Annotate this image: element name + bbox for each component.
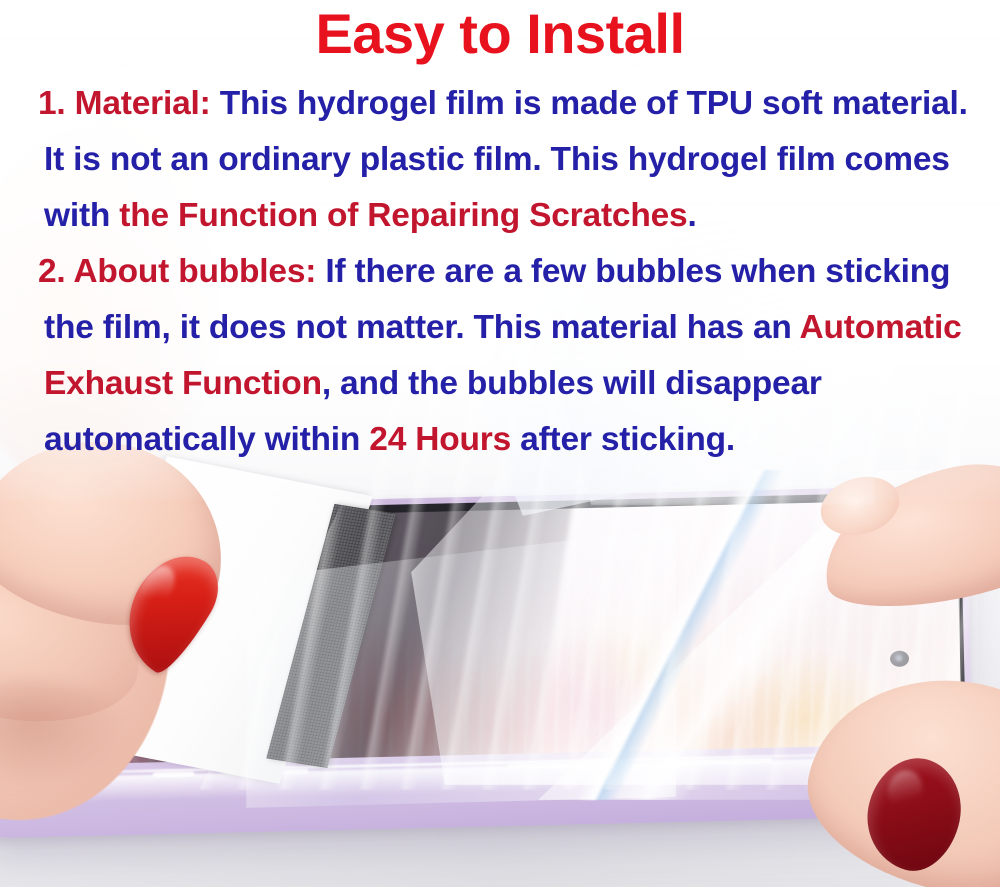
page-title: Easy to Install [0,0,1000,62]
text-run: with [44,197,119,234]
instruction-copy: Easy to Install 1. Material: This hydrog… [0,0,1000,468]
text-run: This hydrogel film is made of TPU soft m… [211,85,968,122]
right-hand [760,470,1000,887]
text-run: If there are a few bubbles when sticking [316,253,950,290]
text-run: the film, it does not matter. This mater… [44,309,800,346]
text-run: Exhaust Function [44,365,322,402]
instruction-line-7: automatically within 24 Hours after stic… [38,412,966,468]
text-run: the Function of Repairing Scratches [119,197,687,234]
text-run: after sticking. [511,421,735,458]
product-infographic: Easy to Install 1. Material: This hydrog… [0,0,1000,887]
instruction-line-1: 1. Material: This hydrogel film is made … [38,76,966,132]
instruction-line-2: It is not an ordinary plastic film. This… [38,132,966,188]
text-run: . [687,197,696,234]
text-run: It is not an ordinary plastic film. This… [44,141,950,178]
text-run: automatically within [44,421,369,458]
text-run: Automatic [800,309,962,346]
instruction-lines: 1. Material: This hydrogel film is made … [0,62,1000,468]
text-run: 24 Hours [369,421,511,458]
text-run: 2. About bubbles: [38,253,316,290]
text-run: 1. Material: [38,85,211,122]
text-run: , and the bubbles will disappear [322,365,822,402]
instruction-line-4: 2. About bubbles: If there are a few bub… [38,244,966,300]
instruction-line-3: with the Function of Repairing Scratches… [38,188,966,244]
instruction-line-5: the film, it does not matter. This mater… [38,300,966,356]
instruction-line-6: Exhaust Function, and the bubbles will d… [38,356,966,412]
